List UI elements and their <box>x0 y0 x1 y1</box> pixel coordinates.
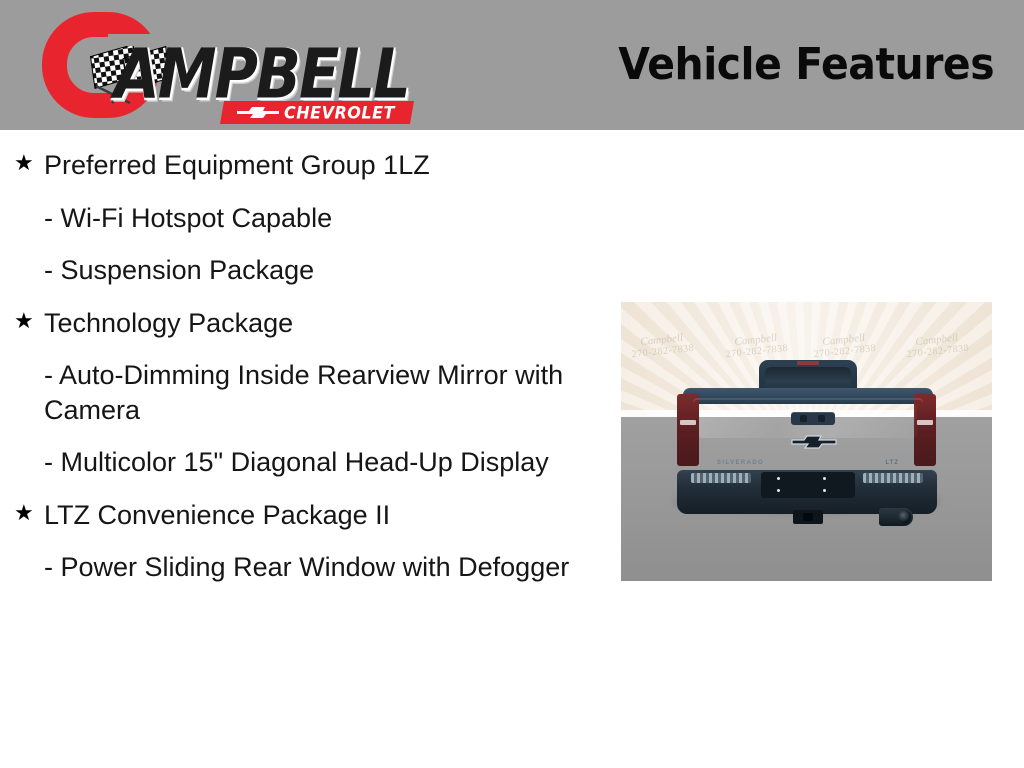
tailgate-trim-text: LTZ <box>885 460 899 466</box>
feature-text: Technology Package <box>44 306 590 341</box>
license-plate-area <box>761 472 855 498</box>
list-item: - Auto-Dimming Inside Rearview Mirror wi… <box>0 358 600 427</box>
list-item: - Suspension Package <box>0 253 600 288</box>
tailgate-model-text: SILVERADO <box>717 460 764 466</box>
list-item: - Wi-Fi Hotspot Capable <box>0 201 600 236</box>
list-item: - Power Sliding Rear Window with Defogge… <box>0 550 600 585</box>
feature-text: - Suspension Package <box>44 253 590 288</box>
logo-chevrolet-text: CHEVROLET <box>284 103 395 123</box>
vehicle-photo: Campbell 270-282-7838 Campbell 270-282-7… <box>621 302 992 581</box>
feature-text: - Multicolor 15" Diagonal Head-Up Displa… <box>44 445 590 480</box>
truck-graphic: SILVERADO LTZ <box>621 302 992 581</box>
list-item: - Multicolor 15" Diagonal Head-Up Displa… <box>0 445 600 480</box>
star-bullet-icon: ★ <box>14 499 34 527</box>
list-item: ★ Preferred Equipment Group 1LZ <box>0 148 600 183</box>
feature-text: LTZ Convenience Package II <box>44 498 590 533</box>
feature-text: - Auto-Dimming Inside Rearview Mirror wi… <box>44 358 590 427</box>
tailgate-handle <box>791 412 835 425</box>
trailer-hitch-icon <box>793 510 823 524</box>
feature-list: ★ Preferred Equipment Group 1LZ - Wi-Fi … <box>0 130 600 585</box>
dealer-logo: AMPBELL CHEVROLET <box>36 8 386 124</box>
chevrolet-bowtie-icon <box>791 434 837 450</box>
feature-text: - Wi-Fi Hotspot Capable <box>44 201 590 236</box>
truck-rear-bumper <box>677 470 937 514</box>
list-item: ★ LTZ Convenience Package II <box>0 498 600 533</box>
list-item: ★ Technology Package <box>0 306 600 341</box>
page-title: Vehicle Features <box>618 39 994 90</box>
star-bullet-icon: ★ <box>14 149 34 177</box>
logo-chevrolet-banner: CHEVROLET <box>220 101 414 124</box>
exhaust-tip-icon <box>879 508 913 526</box>
truck-tailgate: SILVERADO LTZ <box>693 398 923 480</box>
feature-text: Preferred Equipment Group 1LZ <box>44 148 590 183</box>
header-bar: AMPBELL CHEVROLET Vehicle Features <box>0 0 1024 130</box>
feature-text: - Power Sliding Rear Window with Defogge… <box>44 550 590 585</box>
star-bullet-icon: ★ <box>14 307 34 335</box>
slide-root: AMPBELL CHEVROLET Vehicle Features ★ Pre… <box>0 0 1024 768</box>
chevrolet-bowtie-icon <box>236 105 280 120</box>
